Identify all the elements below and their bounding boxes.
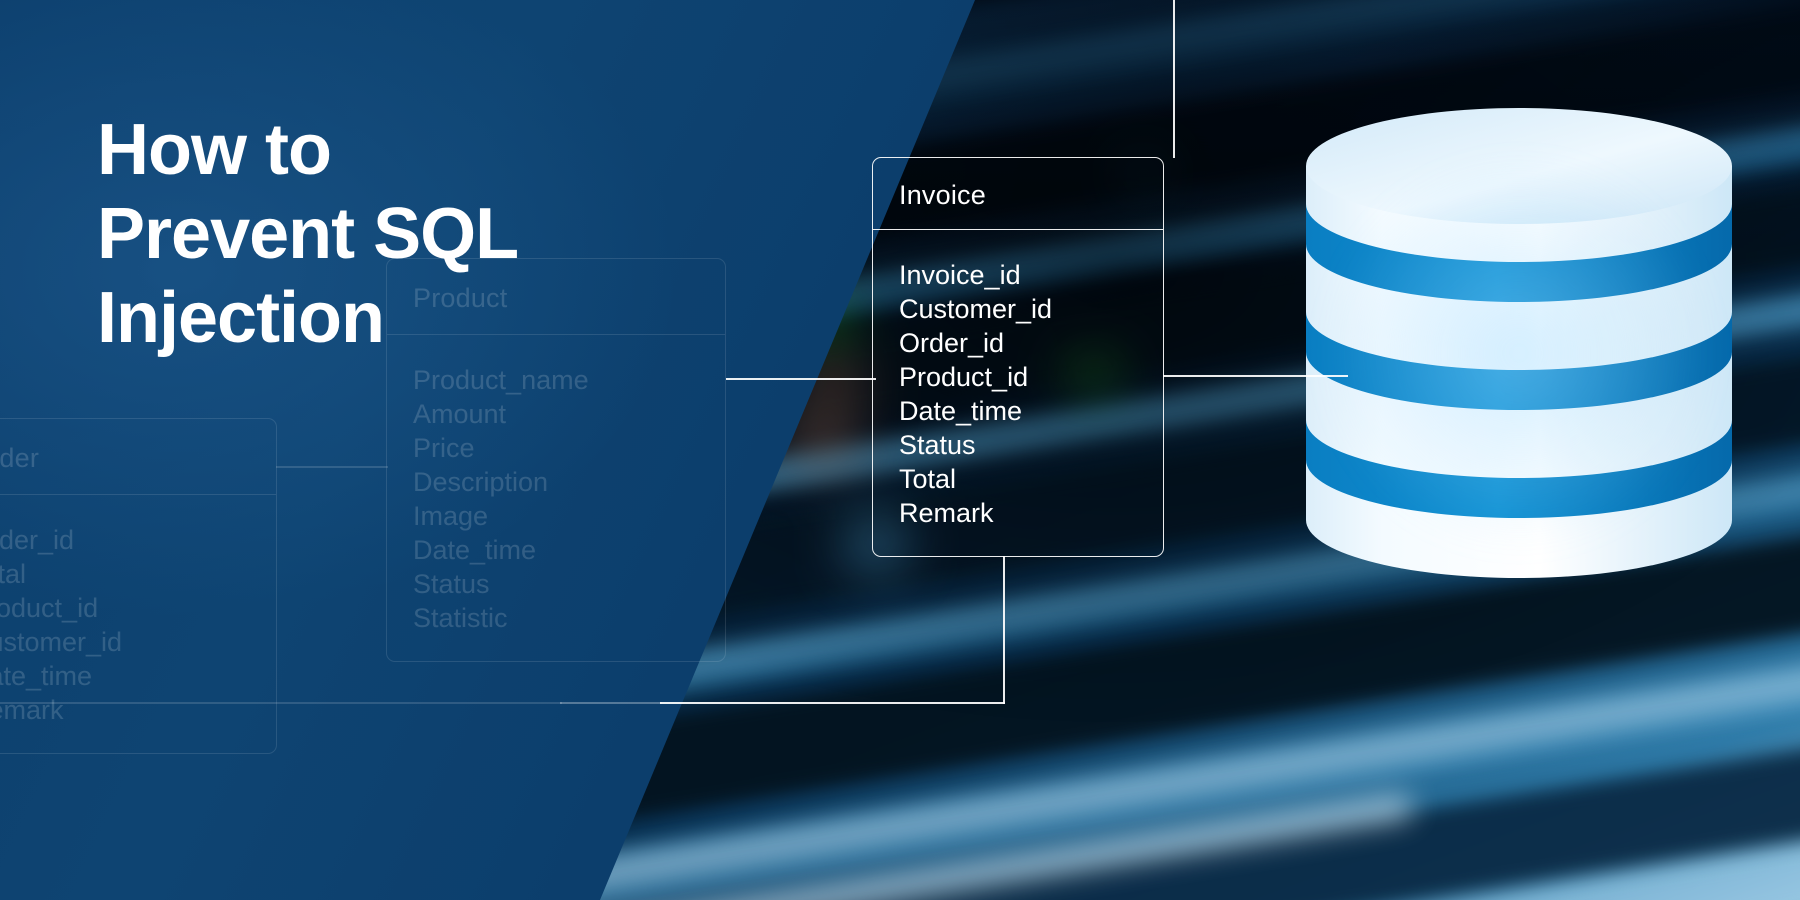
field-row: Date_time <box>413 533 699 567</box>
field-row: Customer_id <box>899 292 1137 326</box>
page-title-line-2: Prevent SQL <box>97 192 657 276</box>
field-row: Date_time <box>899 394 1137 428</box>
page-title-line-3: Injection <box>97 276 657 360</box>
connector-top-vertical <box>1173 0 1175 158</box>
field-row: Product_id <box>899 360 1137 394</box>
er-table-product-fields: Product_name Amount Price Description Im… <box>387 335 725 661</box>
connector-bottom-horizontal-faded <box>0 702 562 704</box>
page-title-line-1: How to <box>97 108 657 192</box>
database-cylinder-icon <box>1284 108 1754 578</box>
field-row: Status <box>413 567 699 601</box>
connector-product-to-invoice <box>726 378 876 380</box>
er-table-order-header: Order <box>0 419 276 495</box>
field-row: Remark <box>0 693 250 727</box>
connector-invoice-to-database <box>1163 375 1348 377</box>
er-table-invoice[interactable]: Invoice Invoice_id Customer_id Order_id … <box>872 157 1164 557</box>
page-title: How to Prevent SQL Injection <box>97 108 657 361</box>
hero-banner: Order Order_id Total Product_id Customer… <box>0 0 1800 900</box>
er-table-order-name: Order <box>0 443 250 474</box>
er-table-invoice-header: Invoice <box>873 158 1163 230</box>
er-table-invoice-fields: Invoice_id Customer_id Order_id Product_… <box>873 230 1163 556</box>
field-row: Order_id <box>899 326 1137 360</box>
field-row: Price <box>413 431 699 465</box>
connector-invoice-bottom-vertical <box>1003 556 1005 704</box>
connector-bottom-horizontal <box>660 702 1005 704</box>
connector-product-to-invoice-faded <box>276 466 388 468</box>
field-row: Invoice_id <box>899 258 1137 292</box>
field-row: Statistic <box>413 601 699 635</box>
field-row: Description <box>413 465 699 499</box>
field-row: Image <box>413 499 699 533</box>
field-row: Product_id <box>0 591 250 625</box>
field-row: Total <box>899 462 1137 496</box>
field-row: Date_time <box>0 659 250 693</box>
connector-bottom-horizontal-left <box>560 702 662 704</box>
field-row: Order_id <box>0 523 250 557</box>
field-row: Remark <box>899 496 1137 530</box>
er-table-order-fields: Order_id Total Product_id Customer_id Da… <box>0 495 276 753</box>
field-row: Amount <box>413 397 699 431</box>
field-row: Product_name <box>413 363 699 397</box>
er-table-invoice-name: Invoice <box>899 180 1137 211</box>
field-row: Customer_id <box>0 625 250 659</box>
field-row: Total <box>0 557 250 591</box>
field-row: Status <box>899 428 1137 462</box>
